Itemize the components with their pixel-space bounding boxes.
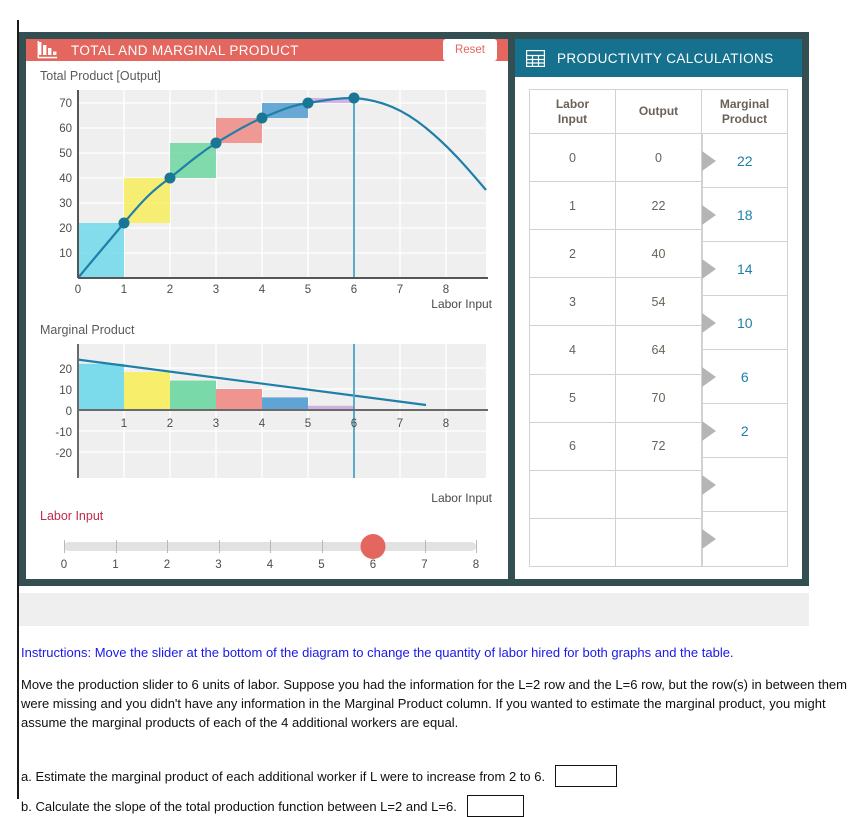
svg-text:8: 8	[443, 418, 449, 430]
productivity-panel-title: PRODUCTIVITY CALCULATIONS	[557, 51, 774, 66]
question-a-answer-input[interactable]	[555, 765, 617, 787]
charts-panel: TOTAL AND MARGINAL PRODUCT Reset Total P…	[26, 39, 508, 579]
question-b-label: b. Calculate the slope of the total prod…	[21, 799, 457, 814]
mp-cell: 6	[702, 350, 788, 404]
svg-text:0: 0	[66, 406, 72, 418]
svg-text:0: 0	[75, 284, 81, 296]
svg-text:1: 1	[121, 284, 127, 296]
svg-text:3: 3	[213, 418, 219, 430]
mp-cell: 2	[702, 404, 788, 458]
mp-cell: 22	[702, 134, 788, 188]
svg-text:10: 10	[59, 248, 72, 260]
arrow-right-icon	[702, 205, 716, 225]
reset-button[interactable]: Reset	[443, 39, 497, 61]
cell-labor: 4	[530, 326, 616, 374]
total-product-xlabel: Labor Input	[36, 297, 498, 311]
labor-slider[interactable]: 0 1 2 3 4 5 6 7 8	[64, 533, 476, 575]
bar-chart-icon	[37, 40, 59, 60]
svg-text:6: 6	[351, 418, 357, 430]
productivity-table: Labor Input Output Marginal Product 0 0	[529, 89, 788, 567]
slider-tick-4: 4	[267, 559, 273, 571]
svg-text:8: 8	[443, 284, 449, 296]
cell-labor	[530, 518, 616, 566]
col-header-output: Output	[616, 90, 702, 134]
svg-text:2: 2	[167, 418, 173, 430]
mp-cell: 14	[702, 242, 788, 296]
cell-output: 72	[616, 422, 702, 470]
mp-cell: 10	[702, 296, 788, 350]
svg-text:3: 3	[213, 284, 219, 296]
total-product-chart: Total Product [Output]	[26, 61, 508, 311]
mp-cell	[702, 512, 788, 566]
table-header-row: Labor Input Output Marginal Product	[530, 90, 788, 134]
svg-text:7: 7	[397, 418, 403, 430]
slider-tick-7: 7	[421, 559, 427, 571]
table-grid-icon	[526, 50, 545, 67]
svg-text:20: 20	[59, 364, 72, 376]
cell-output: 40	[616, 230, 702, 278]
slider-tick-8: 8	[473, 559, 479, 571]
svg-text:30: 30	[59, 198, 72, 210]
cell-output: 22	[616, 182, 702, 230]
arrow-right-icon	[702, 529, 716, 549]
cell-output	[616, 518, 702, 566]
slider-label: Labor Input	[40, 509, 498, 523]
total-product-plot: 10 20 30 40 50 60 70 0 1 2 3 4 5 6	[36, 84, 496, 296]
mp-cell: 18	[702, 188, 788, 242]
arrow-right-icon	[702, 475, 716, 495]
instructions-line: Instructions: Move the slider at the bot…	[21, 645, 841, 660]
mp-cell	[702, 458, 788, 512]
marginal-product-plot: 20 10 0 -10 -20 1 2 3 4 5 6 7 8	[36, 338, 496, 490]
svg-text:-10: -10	[55, 427, 72, 439]
arrow-right-icon	[702, 421, 716, 441]
marginal-product-axis-title: Marginal Product	[40, 323, 498, 337]
question-b-answer-input[interactable]	[467, 795, 524, 817]
charts-panel-title: TOTAL AND MARGINAL PRODUCT	[71, 43, 299, 58]
svg-text:4: 4	[259, 284, 266, 296]
productivity-table-wrap: Labor Input Output Marginal Product 0 0	[515, 77, 802, 579]
question-a: a. Estimate the marginal product of each…	[21, 765, 617, 787]
col-header-marginal-product: Marginal Product	[702, 90, 788, 134]
cell-labor: 1	[530, 182, 616, 230]
charts-panel-header: TOTAL AND MARGINAL PRODUCT Reset	[26, 39, 508, 61]
question-b: b. Calculate the slope of the total prod…	[21, 795, 524, 817]
arrow-right-icon	[702, 313, 716, 333]
cell-output: 54	[616, 278, 702, 326]
svg-text:60: 60	[59, 123, 72, 135]
total-product-axis-title: Total Product [Output]	[40, 69, 498, 83]
svg-text:4: 4	[259, 418, 266, 430]
svg-text:5: 5	[305, 418, 311, 430]
interactive-widget: TOTAL AND MARGINAL PRODUCT Reset Total P…	[19, 32, 809, 586]
cell-labor: 5	[530, 374, 616, 422]
marginal-product-column: 22 18 14	[702, 134, 788, 567]
cell-output: 70	[616, 374, 702, 422]
grey-separator-band	[19, 593, 809, 626]
col-header-labor-input: Labor Input	[530, 90, 616, 134]
slider-tick-3: 3	[215, 559, 221, 571]
cell-labor: 3	[530, 278, 616, 326]
cell-labor: 0	[530, 134, 616, 182]
svg-text:1: 1	[121, 418, 127, 430]
question-a-label: a. Estimate the marginal product of each…	[21, 769, 545, 784]
productivity-panel: PRODUCTIVITY CALCULATIONS Labor Input Ou…	[515, 39, 802, 579]
svg-text:10: 10	[59, 385, 72, 397]
cell-labor: 6	[530, 422, 616, 470]
cell-output: 0	[616, 134, 702, 182]
cell-output: 64	[616, 326, 702, 374]
marginal-product-xlabel: Labor Input	[36, 491, 498, 505]
slider-tick-0: 0	[61, 559, 67, 571]
arrow-right-icon	[702, 151, 716, 171]
table-row: 0 0 22 18	[530, 134, 788, 182]
cell-labor: 2	[530, 230, 616, 278]
marginal-product-chart: Marginal Product	[26, 311, 508, 505]
svg-text:5: 5	[305, 284, 311, 296]
svg-text:70: 70	[59, 98, 72, 110]
slider-tick-2: 2	[164, 559, 170, 571]
cell-labor	[530, 470, 616, 518]
arrow-right-icon	[702, 367, 716, 387]
svg-text:50: 50	[59, 148, 72, 160]
svg-text:40: 40	[59, 173, 72, 185]
instructions-paragraph: Move the production slider to 6 units of…	[21, 676, 853, 733]
slider-tick-6: 6	[370, 559, 376, 571]
arrow-right-icon	[702, 259, 716, 279]
slider-handle[interactable]	[361, 534, 386, 559]
svg-text:6: 6	[351, 284, 357, 296]
productivity-panel-header: PRODUCTIVITY CALCULATIONS	[515, 39, 802, 77]
slider-tick-5: 5	[318, 559, 324, 571]
labor-slider-block: Labor Input 0 1 2 3 4 5 6 7	[26, 505, 508, 585]
cell-output	[616, 470, 702, 518]
svg-text:2: 2	[167, 284, 173, 296]
slider-tick-1: 1	[112, 559, 118, 571]
svg-text:7: 7	[397, 284, 403, 296]
svg-text:-20: -20	[55, 448, 72, 460]
svg-text:20: 20	[59, 223, 72, 235]
